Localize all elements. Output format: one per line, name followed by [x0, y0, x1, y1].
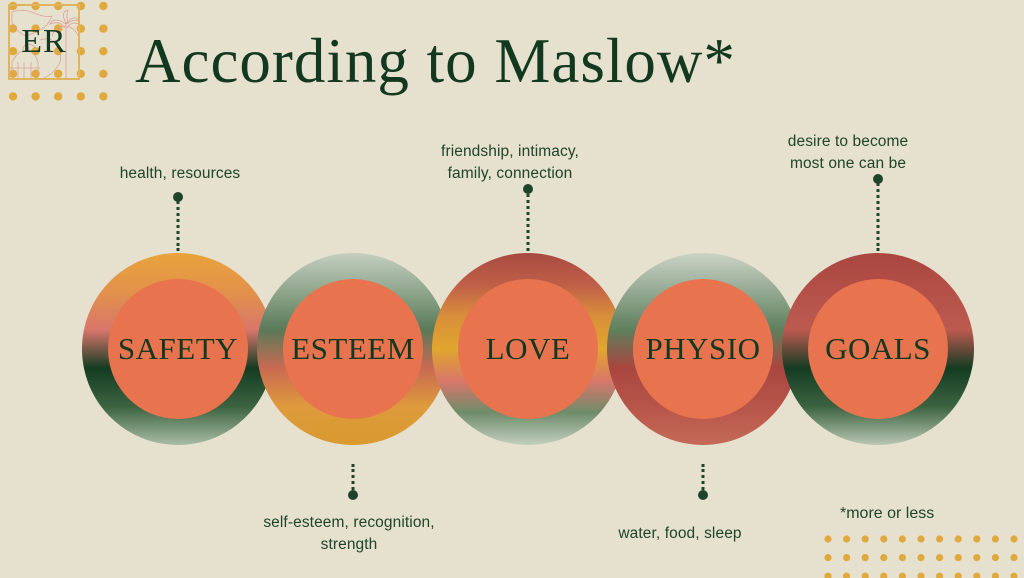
need-label-physio: PHYSIO	[646, 331, 761, 367]
need-circle-inner-physio: PHYSIO	[633, 279, 773, 419]
annotation-esteem: self-esteem, recognition, strength	[234, 512, 464, 557]
need-circle-physio[interactable]: PHYSIO	[607, 253, 799, 445]
annotation-love: friendship, intimacy, family, connection	[416, 141, 604, 186]
need-label-esteem: ESTEEM	[291, 331, 415, 367]
leader-line-love	[518, 188, 538, 251]
annotation-safety: health, resources	[106, 163, 254, 185]
need-label-love: LOVE	[486, 331, 571, 367]
need-circle-inner-goals: GOALS	[808, 279, 948, 419]
annotation-physio: water, food, sleep	[590, 523, 770, 545]
footnote: *more or less	[840, 505, 934, 523]
need-circle-goals[interactable]: GOALS	[782, 253, 974, 445]
need-circle-safety[interactable]: SAFETY	[82, 253, 274, 445]
leader-line-safety	[168, 196, 188, 251]
need-label-goals: GOALS	[825, 331, 931, 367]
need-circle-inner-safety: SAFETY	[108, 279, 248, 419]
needs-circle-row: SAFETYESTEEMLOVEPHYSIOGOALS	[0, 0, 1024, 576]
need-label-safety: SAFETY	[118, 331, 238, 367]
slide-canvas: ER According to Maslow* SAFETYESTEEMLOVE…	[0, 0, 1024, 576]
leader-line-goals	[868, 178, 888, 251]
need-circle-love[interactable]: LOVE	[432, 253, 624, 445]
annotation-goals: desire to become most one can be	[758, 131, 938, 176]
need-circle-esteem[interactable]: ESTEEM	[257, 253, 449, 445]
need-circle-inner-love: LOVE	[458, 279, 598, 419]
leader-line-physio	[693, 464, 713, 496]
bottom-right-dot-grid	[822, 533, 1024, 578]
leader-line-esteem	[343, 464, 363, 496]
need-circle-inner-esteem: ESTEEM	[283, 279, 423, 419]
